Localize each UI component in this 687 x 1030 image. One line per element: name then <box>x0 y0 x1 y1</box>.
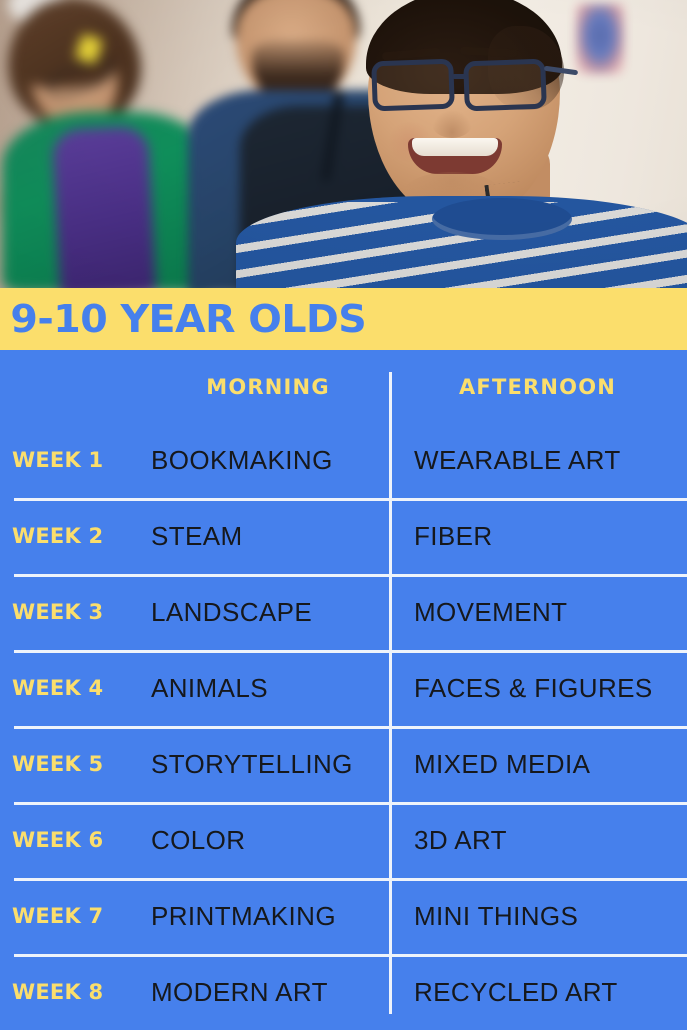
header-photo <box>0 0 687 289</box>
table-row: WEEK 1 BOOKMAKING WEARABLE ART <box>0 422 687 498</box>
cell-afternoon: MIXED MEDIA <box>389 749 687 779</box>
table-row: WEEK 6 COLOR 3D ART <box>0 802 687 878</box>
cell-afternoon: MOVEMENT <box>389 597 687 627</box>
cell-morning-text: STORYTELLING <box>151 749 389 779</box>
cell-afternoon-text: MIXED MEDIA <box>414 749 687 779</box>
cell-afternoon-text: MOVEMENT <box>414 597 687 627</box>
cell-morning-text: COLOR <box>151 825 389 855</box>
boy-eyeglasses <box>372 60 562 112</box>
cell-morning: COLOR <box>148 825 389 855</box>
row-label-week: WEEK 2 <box>0 524 148 548</box>
table-row: WEEK 5 STORYTELLING MIXED MEDIA <box>0 726 687 802</box>
cell-afternoon-text: FIBER <box>414 521 687 551</box>
boy-glasses-temple <box>544 66 578 76</box>
girl-purple-apron <box>52 126 157 289</box>
boy-smile <box>408 138 502 174</box>
boy-teeth <box>412 138 498 156</box>
cell-afternoon-text: FACES & FIGURES <box>414 673 687 703</box>
row-label-week: WEEK 6 <box>0 828 148 852</box>
boy-shirt-collar <box>432 198 572 240</box>
cell-afternoon: MINI THINGS <box>389 901 687 931</box>
foreground-boy <box>320 0 687 289</box>
cell-afternoon: RECYCLED ART <box>389 977 687 1007</box>
cell-morning-text: STEAM <box>151 521 389 551</box>
cell-morning-text: MODERN ART <box>151 977 389 1007</box>
cell-afternoon-text: MINI THINGS <box>414 901 687 931</box>
cell-morning: ANIMALS <box>148 673 389 703</box>
row-label-week: WEEK 3 <box>0 600 148 624</box>
cell-afternoon: 3D ART <box>389 825 687 855</box>
boy-lens-right <box>463 59 547 112</box>
cell-morning-text: PRINTMAKING <box>151 901 389 931</box>
cell-afternoon: FACES & FIGURES <box>389 673 687 703</box>
cell-morning-text: ANIMALS <box>151 673 389 703</box>
cell-morning: LANDSCAPE <box>148 597 389 627</box>
row-label-week: WEEK 1 <box>0 448 148 472</box>
row-label-week: WEEK 7 <box>0 904 148 928</box>
table-row: WEEK 2 STEAM FIBER <box>0 498 687 574</box>
cell-morning-text: LANDSCAPE <box>151 597 389 627</box>
table-body: WEEK 1 BOOKMAKING WEARABLE ART WEEK 2 ST… <box>0 422 687 1030</box>
row-label-week: WEEK 4 <box>0 676 148 700</box>
cell-morning: MODERN ART <box>148 977 389 1007</box>
table-row: WEEK 7 PRINTMAKING MINI THINGS <box>0 878 687 954</box>
schedule-poster: 9-10 YEAR OLDS MORNING AFTERNOON WEEK 1 … <box>0 0 687 1030</box>
column-header-afternoon: AFTERNOON <box>388 374 687 422</box>
cell-morning: STEAM <box>148 521 389 551</box>
schedule-table: MORNING AFTERNOON WEEK 1 BOOKMAKING WEAR… <box>0 350 687 1030</box>
table-header-row: MORNING AFTERNOON <box>0 374 687 422</box>
cell-morning: STORYTELLING <box>148 749 389 779</box>
cell-afternoon-text: RECYCLED ART <box>414 977 687 1007</box>
cell-morning-text: BOOKMAKING <box>151 445 389 475</box>
cell-afternoon: WEARABLE ART <box>389 445 687 475</box>
cell-afternoon-text: WEARABLE ART <box>414 445 687 475</box>
title-banner: 9-10 YEAR OLDS <box>0 288 687 350</box>
page-title: 9-10 YEAR OLDS <box>0 300 366 338</box>
table-row: WEEK 3 LANDSCAPE MOVEMENT <box>0 574 687 650</box>
cell-morning: BOOKMAKING <box>148 445 389 475</box>
row-label-week: WEEK 5 <box>0 752 148 776</box>
cell-afternoon: FIBER <box>389 521 687 551</box>
table-row: WEEK 8 MODERN ART RECYCLED ART <box>0 954 687 1030</box>
boy-lens-left <box>371 59 455 112</box>
table-row: WEEK 4 ANIMALS FACES & FIGURES <box>0 650 687 726</box>
boy-nose <box>432 110 472 138</box>
cell-afternoon-text: 3D ART <box>414 825 687 855</box>
column-header-morning: MORNING <box>148 374 388 422</box>
boy-glasses-bridge <box>452 74 468 79</box>
row-label-week: WEEK 8 <box>0 980 148 1004</box>
cell-morning: PRINTMAKING <box>148 901 389 931</box>
header-week-spacer <box>0 374 148 422</box>
